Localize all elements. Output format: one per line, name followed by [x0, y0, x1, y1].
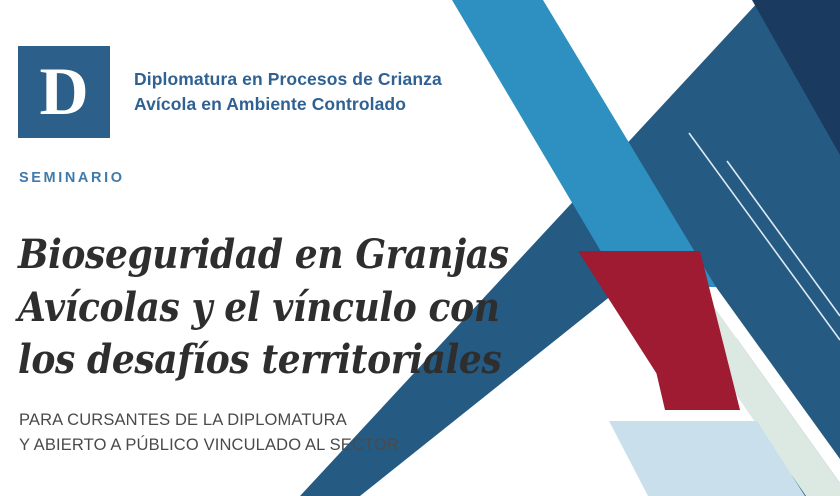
- seminar-eyebrow-label: SEMINARIO: [19, 170, 125, 186]
- audience-note-line-1: PARA CURSANTES DE LA DIPLOMATURA: [19, 408, 399, 433]
- audience-note: PARA CURSANTES DE LA DIPLOMATURA Y ABIER…: [19, 408, 399, 458]
- page-title-line-2: Avícolas y el vínculo con: [18, 282, 522, 335]
- seminar-poster: D Diplomatura en Procesos de Crianza Aví…: [0, 0, 840, 496]
- program-title: Diplomatura en Procesos de Crianza Avíco…: [134, 67, 442, 117]
- logo-letter: D: [39, 57, 88, 125]
- page-title: Bioseguridad en Granjas Avícolas y el ví…: [18, 229, 522, 387]
- diplomatura-logo: D: [18, 46, 110, 138]
- page-title-line-1: Bioseguridad en Granjas: [18, 229, 522, 282]
- page-title-line-3: los desafíos territoriales: [18, 334, 522, 387]
- steel-blue-lower-band: [716, 287, 840, 496]
- header-block: D Diplomatura en Procesos de Crianza Aví…: [18, 46, 442, 138]
- hairline-diagonal-2: [727, 161, 840, 316]
- pale-blue-parallelogram: [609, 421, 805, 496]
- navy-wedge: [752, 0, 840, 155]
- program-title-line-2: Avícola en Ambiente Controlado: [134, 92, 442, 117]
- white-stripe-inner: [700, 287, 840, 483]
- hairline-diagonal-1: [689, 133, 840, 340]
- maroon-parallelogram: [578, 251, 740, 410]
- maroon-step-block: [628, 251, 740, 410]
- program-title-line-1: Diplomatura en Procesos de Crianza: [134, 67, 442, 92]
- audience-note-line-2: Y ABIERTO A PÚBLICO VINCULADO AL SECTOR: [19, 433, 399, 458]
- sage-stripe: [662, 287, 840, 496]
